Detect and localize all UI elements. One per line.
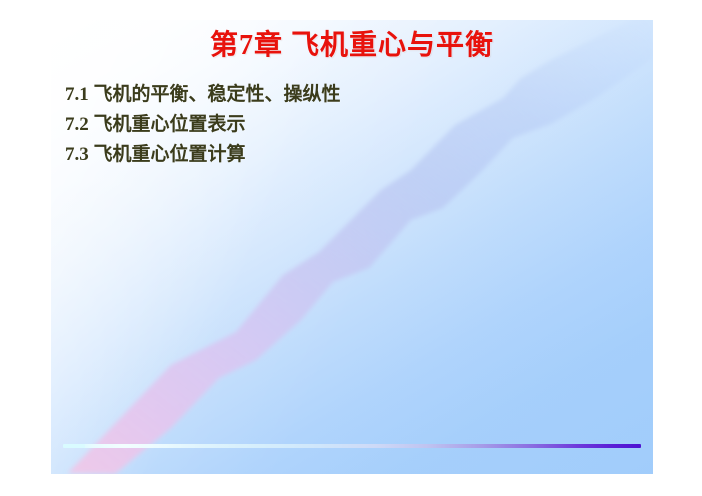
- outline-list: 7.1 飞机的平衡、稳定性、操纵性 7.2 飞机重心位置表示 7.3 飞机重心位…: [65, 80, 605, 170]
- list-item: 7.2 飞机重心位置表示: [65, 110, 605, 140]
- divider-top: [54, 66, 640, 71]
- page-title: 第7章 飞机重心与平衡: [210, 28, 494, 64]
- list-item: 7.1 飞机的平衡、稳定性、操纵性: [65, 80, 605, 110]
- list-item: 7.3 飞机重心位置计算: [65, 140, 605, 170]
- presentation-slide: 第7章 飞机重心与平衡 7.1 飞机的平衡、稳定性、操纵性 7.2 飞机重心位置…: [51, 20, 653, 474]
- divider-bottom-tick: [63, 444, 85, 448]
- divider-bottom: [65, 444, 641, 448]
- title-container: 第7章 飞机重心与平衡: [51, 28, 653, 64]
- slide-canvas: 第7章 飞机重心与平衡 7.1 飞机的平衡、稳定性、操纵性 7.2 飞机重心位置…: [0, 0, 702, 496]
